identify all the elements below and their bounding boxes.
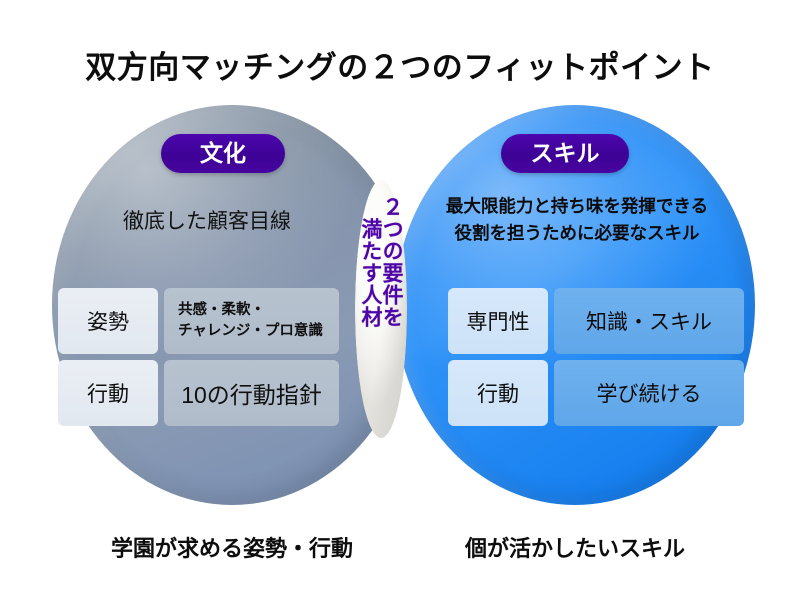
skill-row-2-value: 学び続ける bbox=[554, 360, 744, 426]
culture-row-2-key: 行動 bbox=[58, 360, 158, 426]
culture-headline: 徹底した顧客目線 bbox=[62, 205, 352, 235]
overlap-label: ２つの要件を 満たす人材 bbox=[352, 196, 410, 426]
skill-row-1-value: 知識・スキル bbox=[554, 288, 744, 354]
skill-badge: スキル bbox=[501, 134, 629, 173]
culture-row-2-value: 10の行動指針 bbox=[164, 360, 339, 426]
skill-caption: 個が活かしたいスキル bbox=[395, 531, 755, 563]
culture-row-1-key: 姿勢 bbox=[58, 288, 158, 354]
skill-row-1-key: 専門性 bbox=[448, 288, 548, 354]
culture-row-1-value-line-1: 共感・柔軟・ bbox=[178, 300, 331, 321]
skill-headline-line-2: 役割を担うために必要なスキル bbox=[412, 220, 742, 247]
culture-caption: 学園が求める姿勢・行動 bbox=[52, 531, 412, 563]
overlap-label-column-left: 満たす人材 bbox=[360, 196, 381, 328]
culture-row-1-value: 共感・柔軟・ チャレンジ・プロ意識 bbox=[164, 288, 339, 354]
culture-row-1-value-line-2: チャレンジ・プロ意識 bbox=[178, 321, 331, 342]
culture-badge: 文化 bbox=[161, 134, 285, 173]
slide-canvas: 双方向マッチングの２つのフィットポイント ２つの要件を 満たす人材 文化 スキル… bbox=[0, 0, 800, 615]
overlap-label-column-right: ２つの要件を bbox=[381, 196, 402, 328]
culture-attribute-table: 姿勢 共感・柔軟・ チャレンジ・プロ意識 行動 10の行動指針 bbox=[58, 288, 339, 426]
skill-headline: 最大限能力と持ち味を発揮できる 役割を担うために必要なスキル bbox=[412, 193, 742, 247]
skill-row-2-key: 行動 bbox=[448, 360, 548, 426]
page-title: 双方向マッチングの２つのフィットポイント bbox=[0, 42, 800, 87]
skill-attribute-table: 専門性 知識・スキル 行動 学び続ける bbox=[448, 288, 744, 426]
skill-headline-line-1: 最大限能力と持ち味を発揮できる bbox=[412, 193, 742, 220]
